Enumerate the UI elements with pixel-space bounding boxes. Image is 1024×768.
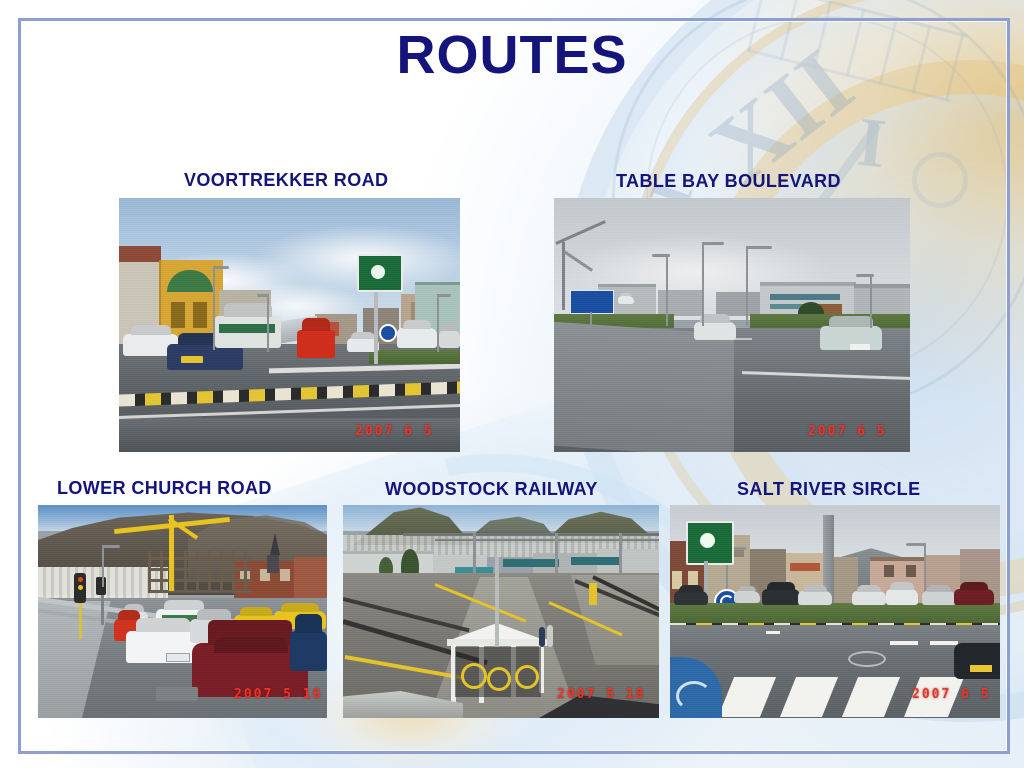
photo-timestamp: 2007 6 5 (355, 424, 434, 439)
photo-timestamp: 2007 6 5 (808, 424, 887, 439)
photo-scene (554, 198, 910, 452)
photo-salt-river-sircle[interactable]: 2007 6 5 (670, 505, 1000, 718)
caption-woodstock-railway: WOODSTOCK RAILWAY (385, 479, 598, 500)
photo-timestamp: 2007 6 5 (912, 687, 991, 702)
photo-lower-church-road[interactable]: 2007 5 16 (38, 505, 327, 718)
caption-voortrekker-road: VOORTREKKER ROAD (184, 170, 388, 191)
photo-scene (119, 198, 460, 452)
photo-timestamp: 2007 5 16 (234, 687, 322, 702)
caption-salt-river-sircle: SALT RIVER SIRCLE (737, 479, 920, 500)
photo-table-bay-boulevard[interactable]: 2007 6 5 (554, 198, 910, 452)
caption-table-bay-boulevard: TABLE BAY BOULEVARD (616, 171, 841, 192)
photo-timestamp: 2007 5 18 (557, 687, 645, 702)
photo-voortrekker-road[interactable]: 2007 6 5 (119, 198, 460, 452)
photo-woodstock-railway[interactable]: 2007 5 18 (343, 505, 659, 718)
clock-winder (912, 152, 968, 208)
clock-numeral-i: I (854, 103, 890, 186)
presentation-slide: XII I XI ROUTES VOORTREKKER ROAD TABLE B… (0, 0, 1024, 768)
caption-lower-church-road: LOWER CHURCH ROAD (57, 478, 272, 499)
page-title: ROUTES (0, 26, 1024, 84)
